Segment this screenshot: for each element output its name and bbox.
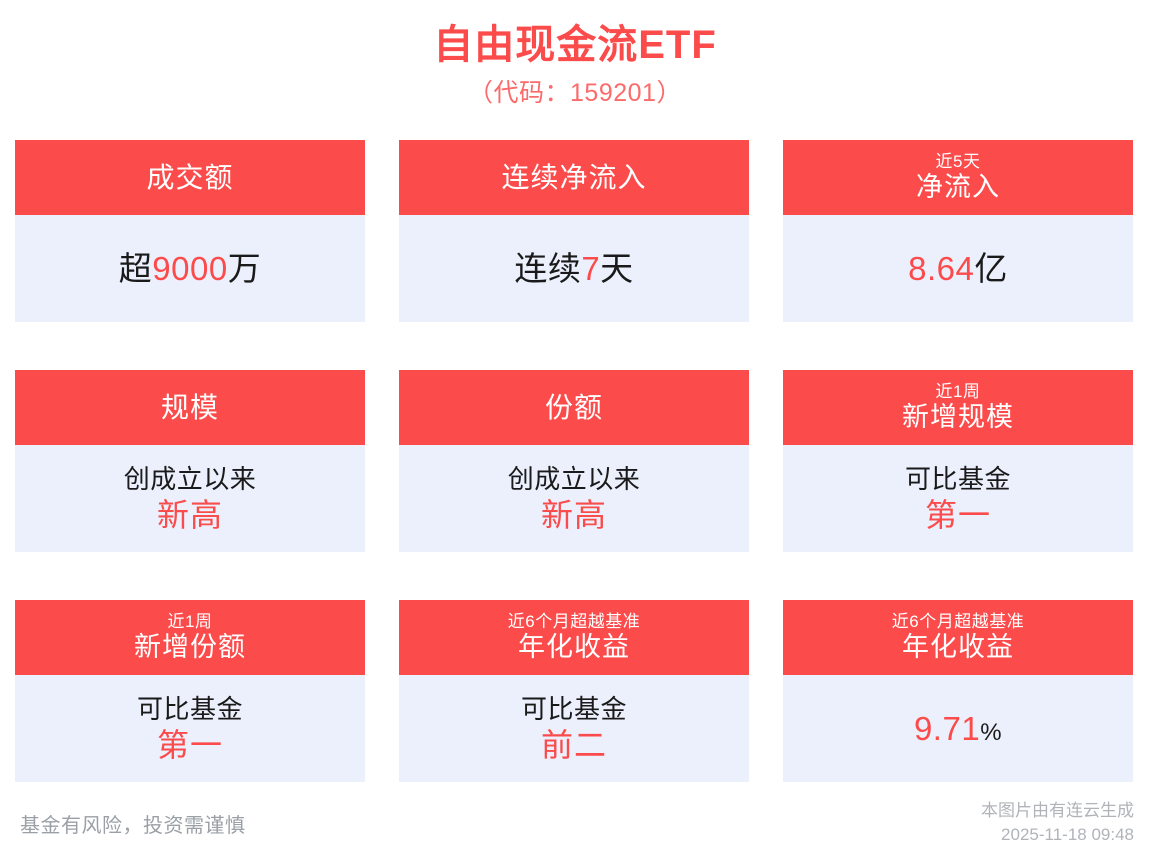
card-header: 近6个月超越基准 年化收益 xyxy=(399,600,749,675)
card-value-highlight: 新高 xyxy=(157,496,223,534)
card-header: 规模 xyxy=(15,370,365,445)
card-header-sublabel: 近5天 xyxy=(936,152,981,172)
card-header-label: 成交额 xyxy=(146,161,233,195)
card-value-caption: 创成立以来 xyxy=(508,463,641,496)
card-value-line: 8.64亿 xyxy=(908,249,1008,289)
card-body: 可比基金 第一 xyxy=(783,445,1133,552)
card-header-sublabel: 近6个月超越基准 xyxy=(508,612,640,632)
card-value-accent: 9000 xyxy=(152,250,227,287)
card-header-label: 新增份额 xyxy=(134,631,246,663)
card-value-caption: 可比基金 xyxy=(905,463,1011,496)
card-value-accent: 7 xyxy=(581,250,600,287)
card-header: 近1周 新增规模 xyxy=(783,370,1133,445)
card-header-label: 规模 xyxy=(161,391,219,425)
generation-source: 本图片由有连云生成 xyxy=(981,799,1134,824)
metric-card-grid: 成交额 超9000万 连续净流入 连续7天 近5天 净流入 8.64亿 xyxy=(15,140,1135,782)
card-value-accent: 9.71 xyxy=(914,710,980,747)
card-value-suffix: 天 xyxy=(600,250,634,287)
card-header: 近6个月超越基准 年化收益 xyxy=(783,600,1133,675)
card-header: 成交额 xyxy=(15,140,365,215)
page-subtitle-code: （代码：159201） xyxy=(0,76,1150,111)
card-header-sublabel: 近1周 xyxy=(168,612,213,632)
card-value-suffix: % xyxy=(980,719,1002,746)
metric-card[interactable]: 成交额 超9000万 xyxy=(15,140,365,322)
card-value-highlight: 第一 xyxy=(157,726,223,764)
metric-card[interactable]: 近5天 净流入 8.64亿 xyxy=(783,140,1133,322)
card-value-prefix: 超 xyxy=(119,250,153,287)
card-header-label: 年化收益 xyxy=(902,631,1014,663)
page-footer: 基金有风险，投资需谨慎 本图片由有连云生成 2025-11-18 09:48 xyxy=(0,790,1150,860)
risk-disclaimer: 基金有风险，投资需谨慎 xyxy=(20,809,246,838)
card-header-label: 年化收益 xyxy=(518,631,630,663)
card-value-highlight: 第一 xyxy=(925,496,991,534)
card-value-accent: 8.64 xyxy=(908,250,974,287)
card-value-caption: 可比基金 xyxy=(137,693,243,726)
card-header-label: 连续净流入 xyxy=(501,161,646,195)
card-body: 创成立以来 新高 xyxy=(15,445,365,552)
generation-info: 本图片由有连云生成 2025-11-18 09:48 xyxy=(981,799,1134,848)
card-body: 可比基金 第一 xyxy=(15,675,365,782)
card-header-label: 新增规模 xyxy=(902,401,1014,433)
metric-card[interactable]: 近6个月超越基准 年化收益 可比基金 前二 xyxy=(399,600,749,782)
card-body: 9.71% xyxy=(783,675,1133,782)
card-header-sublabel: 近6个月超越基准 xyxy=(892,612,1024,632)
card-header-label: 净流入 xyxy=(916,171,1000,203)
card-value-suffix: 亿 xyxy=(974,250,1008,287)
card-header-sublabel: 近1周 xyxy=(936,382,981,402)
generation-timestamp: 2025-11-18 09:48 xyxy=(981,823,1134,848)
page-header: 自由现金流ETF （代码：159201） xyxy=(0,0,1150,111)
card-body: 8.64亿 xyxy=(783,215,1133,322)
page-title: 自由现金流ETF xyxy=(0,20,1150,70)
card-header: 近5天 净流入 xyxy=(783,140,1133,215)
card-value-line: 超9000万 xyxy=(119,249,261,289)
card-value-caption: 可比基金 xyxy=(521,693,627,726)
card-value-line: 9.71% xyxy=(914,709,1002,749)
card-header-label: 份额 xyxy=(545,391,603,425)
card-value-highlight: 新高 xyxy=(541,496,607,534)
metric-card[interactable]: 近6个月超越基准 年化收益 9.71% xyxy=(783,600,1133,782)
card-value-prefix: 连续 xyxy=(514,250,581,287)
metric-card[interactable]: 份额 创成立以来 新高 xyxy=(399,370,749,552)
card-value-caption: 创成立以来 xyxy=(124,463,257,496)
card-value-highlight: 前二 xyxy=(541,726,607,764)
card-body: 创成立以来 新高 xyxy=(399,445,749,552)
card-body: 连续7天 xyxy=(399,215,749,322)
card-header: 连续净流入 xyxy=(399,140,749,215)
card-body: 可比基金 前二 xyxy=(399,675,749,782)
card-body: 超9000万 xyxy=(15,215,365,322)
metric-card[interactable]: 近1周 新增份额 可比基金 第一 xyxy=(15,600,365,782)
metric-card[interactable]: 近1周 新增规模 可比基金 第一 xyxy=(783,370,1133,552)
metric-card[interactable]: 连续净流入 连续7天 xyxy=(399,140,749,322)
card-value-line: 连续7天 xyxy=(514,249,633,289)
card-value-suffix: 万 xyxy=(228,250,262,287)
card-header: 近1周 新增份额 xyxy=(15,600,365,675)
metric-card[interactable]: 规模 创成立以来 新高 xyxy=(15,370,365,552)
card-header: 份额 xyxy=(399,370,749,445)
